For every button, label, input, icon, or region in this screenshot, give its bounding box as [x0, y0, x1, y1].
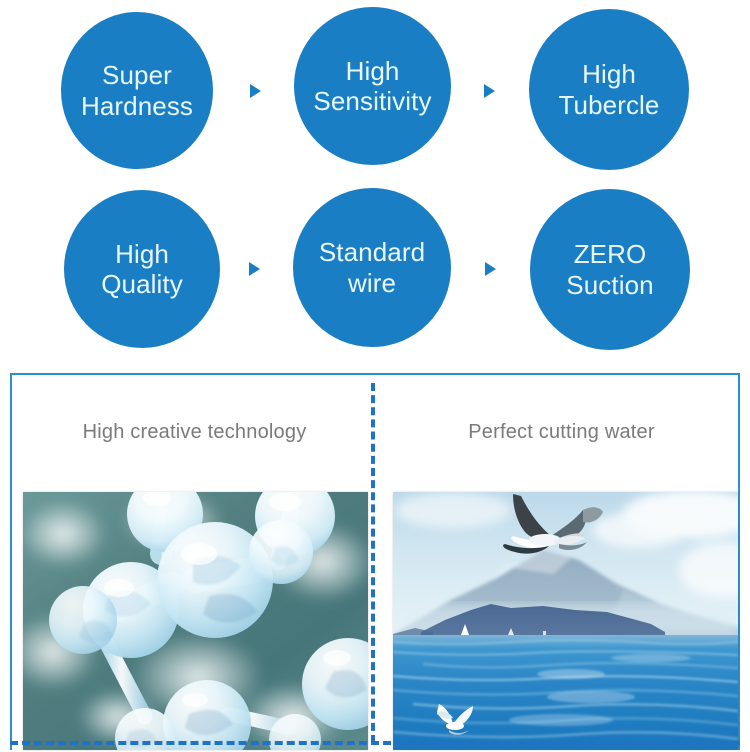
ice-water-molecule-photo — [23, 492, 368, 750]
showcase-column-left: High creative technology — [12, 375, 375, 752]
arrow-right-icon — [250, 84, 261, 98]
arrow-right-icon — [249, 262, 260, 276]
bubble-line-1: High — [346, 56, 400, 86]
feature-bubble-high-sensitivity[interactable]: High Sensitivity — [294, 7, 451, 165]
feature-bubble-high-tubercle[interactable]: High Tubercle — [529, 9, 689, 170]
bubble-line-2: Quality — [101, 269, 183, 299]
bubble-line-1: Standard — [319, 237, 425, 267]
showcase-panel: High creative technology — [10, 373, 740, 750]
showcase-column-right: Perfect cutting water — [377, 375, 740, 752]
bubble-line-2: Suction — [566, 270, 653, 300]
bubble-line-1: High — [115, 239, 169, 269]
feature-bubble-standard-wire[interactable]: Standard wire — [293, 188, 451, 347]
seascape-seagull-photo — [393, 492, 738, 750]
feature-bubble-super-hardness[interactable]: Super Hardness — [61, 12, 213, 169]
feature-bubble-high-quality[interactable]: High Quality — [64, 190, 220, 348]
showcase-vertical-divider — [371, 383, 375, 743]
arrow-right-icon — [484, 84, 495, 98]
bubble-line-2: Tubercle — [559, 90, 660, 120]
bubble-line-1: Super — [102, 60, 172, 90]
bubble-line-1: High — [582, 59, 636, 89]
showcase-caption-left: High creative technology — [12, 421, 375, 444]
bubble-line-2: wire — [348, 268, 396, 298]
arrow-right-icon — [485, 262, 496, 276]
showcase-bottom-dashed-border — [10, 741, 740, 745]
feature-bubble-zero-suction[interactable]: ZERO Suction — [530, 189, 690, 350]
bubble-line-1: ZERO — [574, 239, 647, 269]
bubble-line-2: Sensitivity — [313, 86, 431, 116]
showcase-caption-right: Perfect cutting water — [377, 421, 740, 444]
features-section: Super Hardness High Sensitivity High Tub… — [0, 0, 750, 360]
bubble-line-2: Hardness — [81, 91, 193, 121]
seascape-illustration — [393, 492, 738, 750]
ice-molecule-illustration — [23, 492, 368, 750]
feature-row-2: High Quality Standard wire ZERO Suction — [0, 180, 750, 360]
feature-row-1: Super Hardness High Sensitivity High Tub… — [0, 0, 750, 180]
